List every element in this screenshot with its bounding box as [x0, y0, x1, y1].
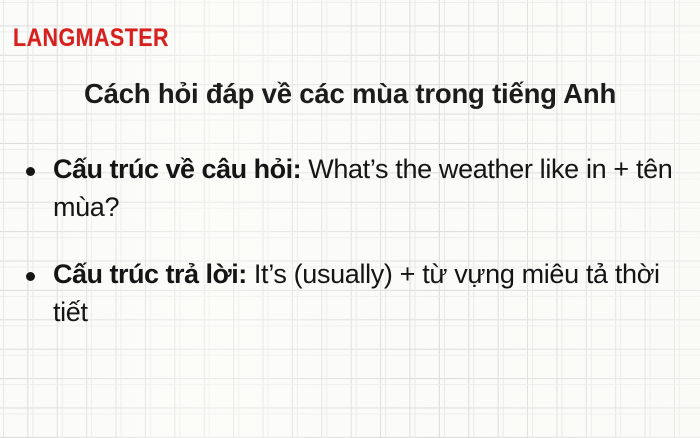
page-title: Cách hỏi đáp về các mùa trong tiếng Anh — [0, 79, 700, 110]
bullet-dot-icon — [26, 167, 35, 176]
bullet-dot-icon — [26, 272, 35, 281]
list-item-label: Cấu trúc trả lời: — [53, 259, 247, 289]
list-item-label: Cấu trúc về câu hỏi: — [53, 154, 301, 184]
list-item: Cấu trúc về câu hỏi: What’s the weather … — [26, 150, 690, 227]
bullet-list: Cấu trúc về câu hỏi: What’s the weather … — [26, 150, 690, 331]
slide-canvas: LANGMASTER Cách hỏi đáp về các mùa trong… — [0, 0, 700, 438]
list-item-text: Cấu trúc trả lời: It’s (usually) + từ vự… — [53, 255, 690, 332]
slide-content: LANGMASTER Cách hỏi đáp về các mùa trong… — [0, 0, 700, 438]
langmaster-logo: LANGMASTER — [13, 26, 169, 51]
list-item-text: Cấu trúc về câu hỏi: What’s the weather … — [53, 150, 690, 227]
list-item: Cấu trúc trả lời: It’s (usually) + từ vự… — [26, 255, 690, 332]
